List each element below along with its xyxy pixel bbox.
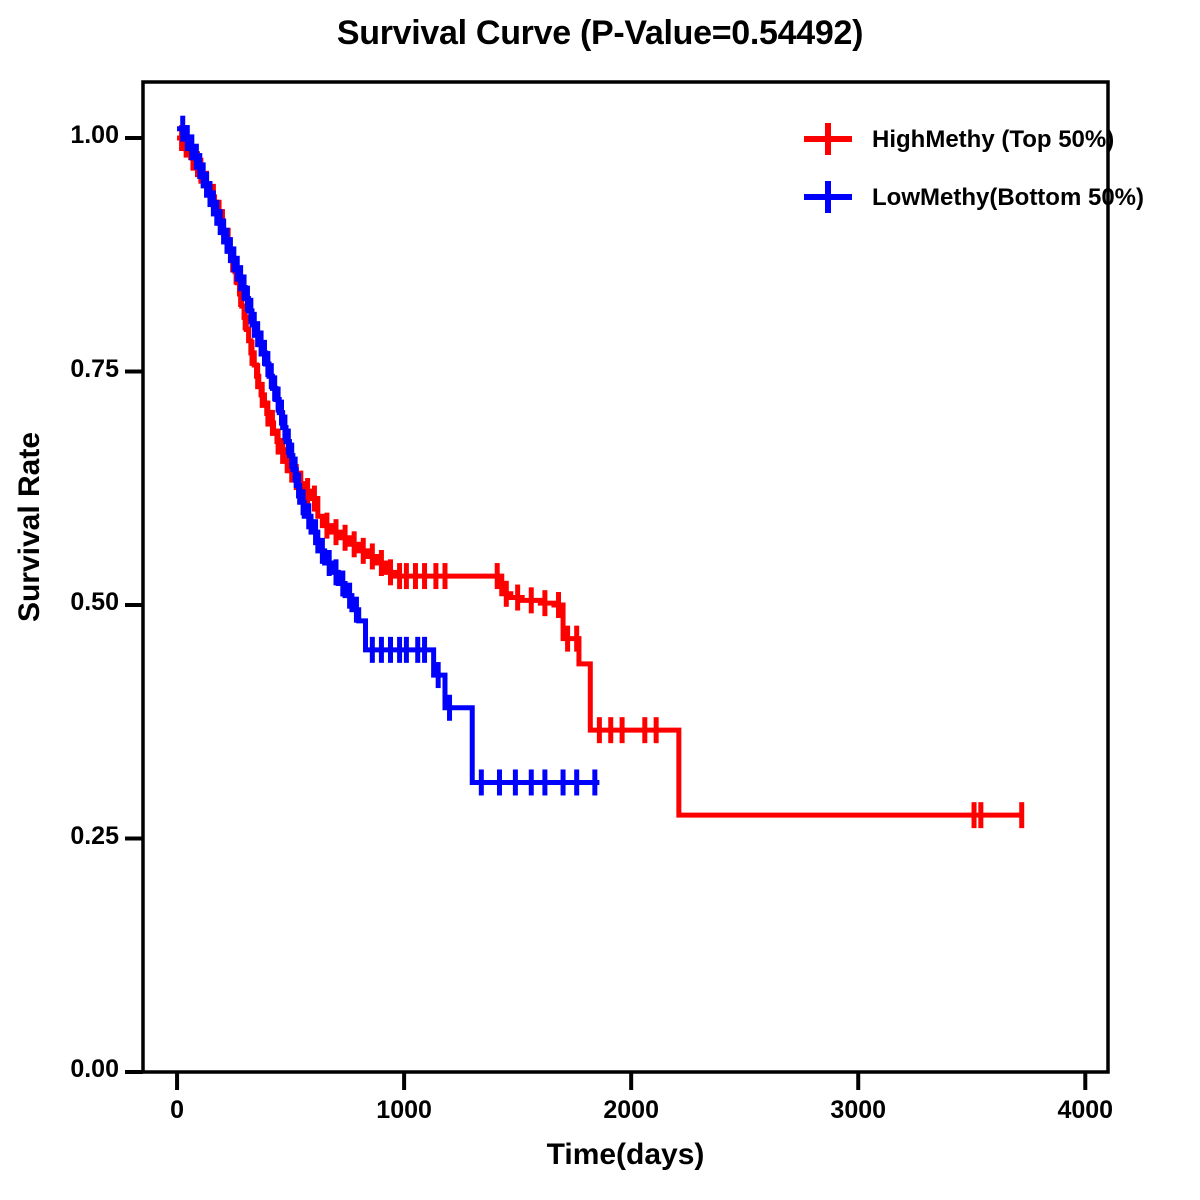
survival-step-line	[177, 138, 1024, 815]
curves-group	[177, 116, 1024, 828]
plot-border	[143, 82, 1108, 1072]
legend-item-label[interactable]: HighMethy (Top 50%)	[872, 126, 1114, 154]
legend-item-label[interactable]: LowMethy(Bottom 50%)	[872, 184, 1144, 212]
y-tick-label: 0.25	[29, 822, 119, 851]
x-tick-label: 2000	[576, 1096, 686, 1125]
y-tick-label: 1.00	[29, 121, 119, 150]
x-tick-label: 0	[122, 1096, 232, 1125]
y-tick-label: 0.50	[29, 588, 119, 617]
legend-marker-plus-marker	[800, 120, 856, 158]
y-tick-label: 0.00	[29, 1055, 119, 1084]
y-tick-label: 0.75	[29, 355, 119, 384]
plot-canvas	[0, 0, 1200, 1200]
x-tick-label: 3000	[803, 1096, 913, 1125]
survival-step-line	[177, 129, 599, 783]
axes-group	[125, 82, 1108, 1090]
x-tick-label: 4000	[1030, 1096, 1140, 1125]
legend-marker-plus-marker	[800, 178, 856, 216]
x-tick-label: 1000	[349, 1096, 459, 1125]
survival-curve-figure: Survival Curve (P-Value=0.54492) Surviva…	[0, 0, 1200, 1200]
